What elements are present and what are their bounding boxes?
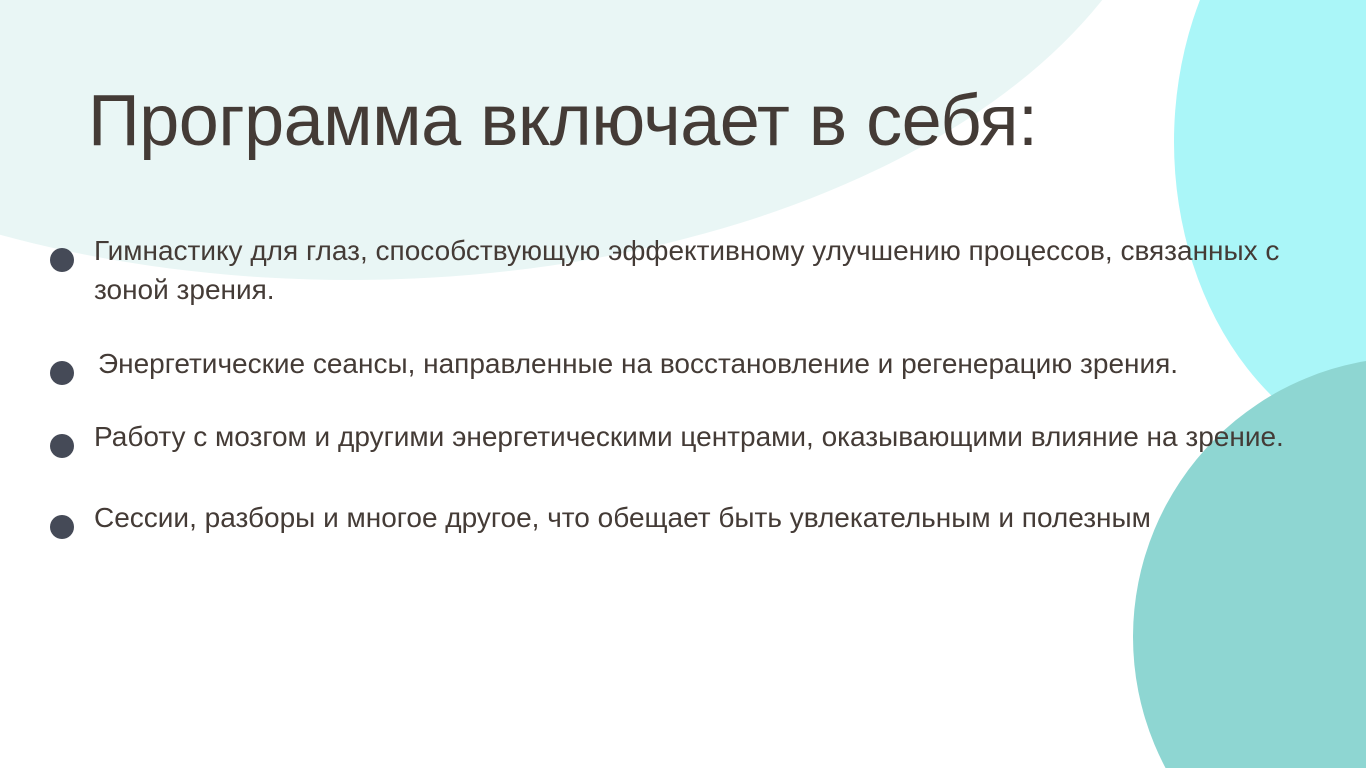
list-item: Работу с мозгом и другими энергетическим…: [44, 418, 1294, 457]
list-item-text: Работу с мозгом и другими энергетическим…: [94, 418, 1294, 457]
bullet-dot-icon: [50, 434, 74, 458]
bullet-dot-icon: [50, 515, 74, 539]
list-item-text: Сессии, разборы и многое другое, что обе…: [94, 499, 1294, 538]
slide-title: Программа включает в себя:: [88, 84, 1208, 160]
bullet-dot-icon: [50, 248, 74, 272]
list-item: Сессии, разборы и многое другое, что обе…: [44, 499, 1294, 538]
presentation-slide: Программа включает в себя: Гимнастику дл…: [0, 0, 1366, 768]
list-item: Гимнастику для глаз, способствующую эффе…: [44, 232, 1294, 309]
bullet-dot-icon: [50, 361, 74, 385]
bullet-list: Гимнастику для глаз, способствующую эффе…: [44, 232, 1294, 537]
list-item: Энергетические сеансы, направленные на в…: [44, 345, 1294, 384]
list-item-text: Энергетические сеансы, направленные на в…: [94, 345, 1294, 384]
list-item-text: Гимнастику для глаз, способствующую эффе…: [94, 232, 1294, 309]
slide-content: Программа включает в себя: Гимнастику дл…: [0, 0, 1366, 768]
